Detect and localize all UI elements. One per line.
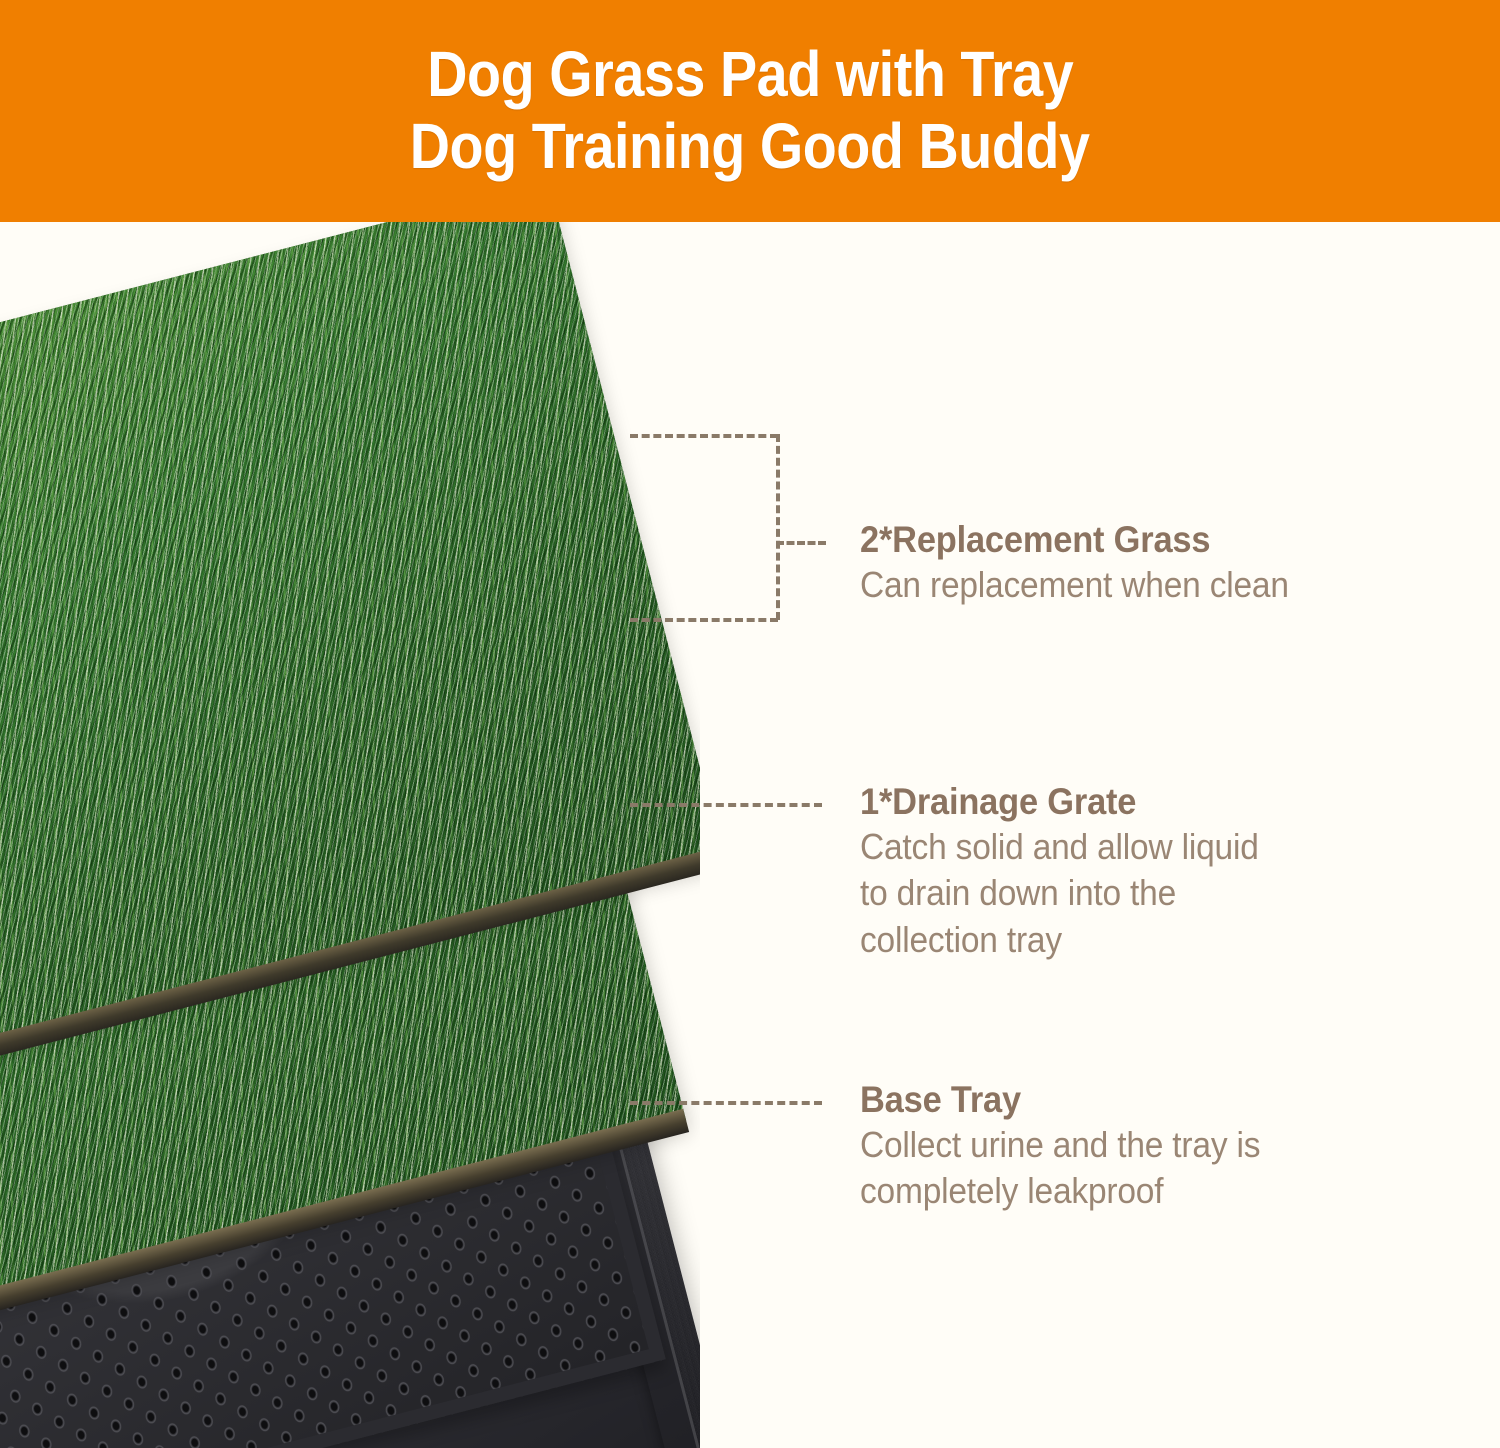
product-image bbox=[0, 222, 700, 1448]
bracket-bottom-segment bbox=[630, 618, 778, 622]
callout-title-replacement-grass: 2*Replacement Grass bbox=[860, 518, 1289, 562]
callout-body-line: Collect urine and the tray is bbox=[860, 1122, 1260, 1169]
callout-body-line: Can replacement when clean bbox=[860, 562, 1289, 609]
header-banner: Dog Grass Pad with Tray Dog Training Goo… bbox=[0, 0, 1500, 222]
banner-title-line-2: Dog Training Good Buddy bbox=[410, 111, 1090, 183]
connector-line-base-tray bbox=[630, 1101, 822, 1105]
callout-replacement-grass: 2*Replacement Grass Can replacement when… bbox=[860, 518, 1321, 608]
callout-title-base-tray: Base Tray bbox=[860, 1078, 1260, 1122]
callout-body-line: completely leakproof bbox=[860, 1168, 1260, 1215]
bracket-top-segment bbox=[630, 434, 778, 438]
callout-drainage-grate: 1*Drainage Grate Catch solid and allow l… bbox=[860, 780, 1289, 964]
bracket-stub-segment bbox=[776, 541, 826, 545]
callout-body-line: to drain down into the bbox=[860, 870, 1259, 917]
connector-line-drainage-grate bbox=[630, 803, 822, 807]
bracket-vertical-segment bbox=[776, 434, 780, 620]
callout-body-drainage-grate: Catch solid and allow liquid to drain do… bbox=[860, 824, 1259, 964]
callout-body-line: Catch solid and allow liquid bbox=[860, 824, 1259, 871]
callout-body-base-tray: Collect urine and the tray is completely… bbox=[860, 1122, 1260, 1216]
banner-title-line-1: Dog Grass Pad with Tray bbox=[427, 39, 1073, 111]
callout-base-tray: Base Tray Collect urine and the tray is … bbox=[860, 1078, 1290, 1215]
callout-body-line: collection tray bbox=[860, 917, 1259, 964]
callout-body-replacement-grass: Can replacement when clean bbox=[860, 562, 1289, 609]
callout-title-drainage-grate: 1*Drainage Grate bbox=[860, 780, 1259, 824]
